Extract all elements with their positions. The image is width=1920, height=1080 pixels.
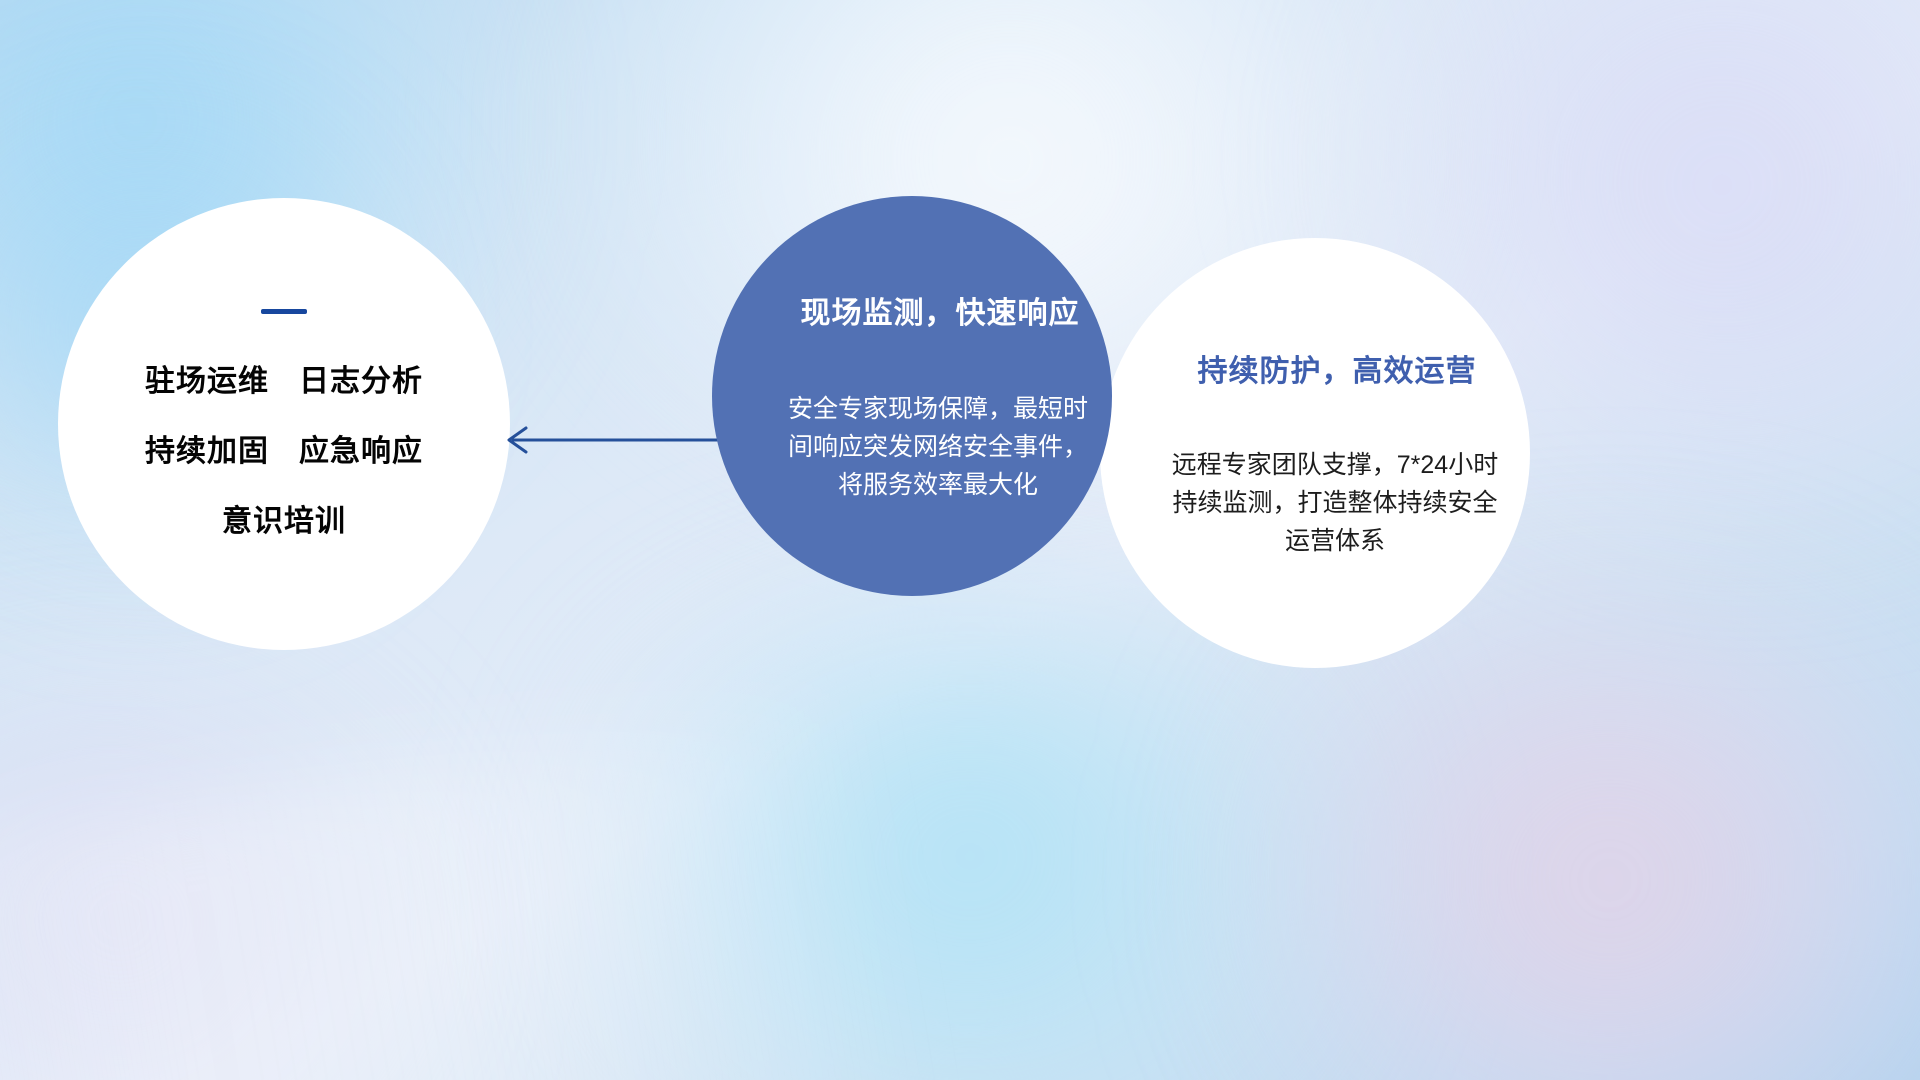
accent-rule-divider bbox=[261, 309, 307, 314]
keyword-item: 持续加固 bbox=[145, 426, 269, 470]
left-keywords-circle: 驻场运维 日志分析 持续加固 应急响应 意识培训 bbox=[58, 198, 510, 650]
keyword-row: 意识培训 bbox=[222, 496, 346, 540]
right-info-circle: 持续防护，高效运营 远程专家团队支撑，7*24小时持续监测，打造整体持续安全运营… bbox=[1100, 238, 1530, 668]
keyword-row: 持续加固 应急响应 bbox=[145, 426, 423, 470]
middle-circle-body: 安全专家现场保障，最短时间响应突发网络安全事件，将服务效率最大化 bbox=[788, 390, 1088, 504]
right-circle-title: 持续防护，高效运营 bbox=[1198, 346, 1477, 390]
right-circle-body: 远程专家团队支撑，7*24小时持续监测，打造整体持续安全运营体系 bbox=[1163, 446, 1507, 560]
middle-circle-title: 现场监测，快速响应 bbox=[801, 288, 1080, 332]
middle-info-circle: 现场监测，快速响应 安全专家现场保障，最短时间响应突发网络安全事件，将服务效率最… bbox=[712, 196, 1112, 596]
slide-canvas: 驻场运维 日志分析 持续加固 应急响应 意识培训 持续防护，高效运营 远程专家团… bbox=[0, 0, 1920, 1080]
keyword-item: 日志分析 bbox=[299, 356, 423, 400]
keyword-item: 应急响应 bbox=[299, 426, 423, 470]
keyword-row: 驻场运维 日志分析 bbox=[145, 356, 423, 400]
connector-arrow-icon bbox=[492, 416, 732, 464]
keyword-item: 驻场运维 bbox=[145, 356, 269, 400]
keyword-item: 意识培训 bbox=[222, 496, 346, 540]
